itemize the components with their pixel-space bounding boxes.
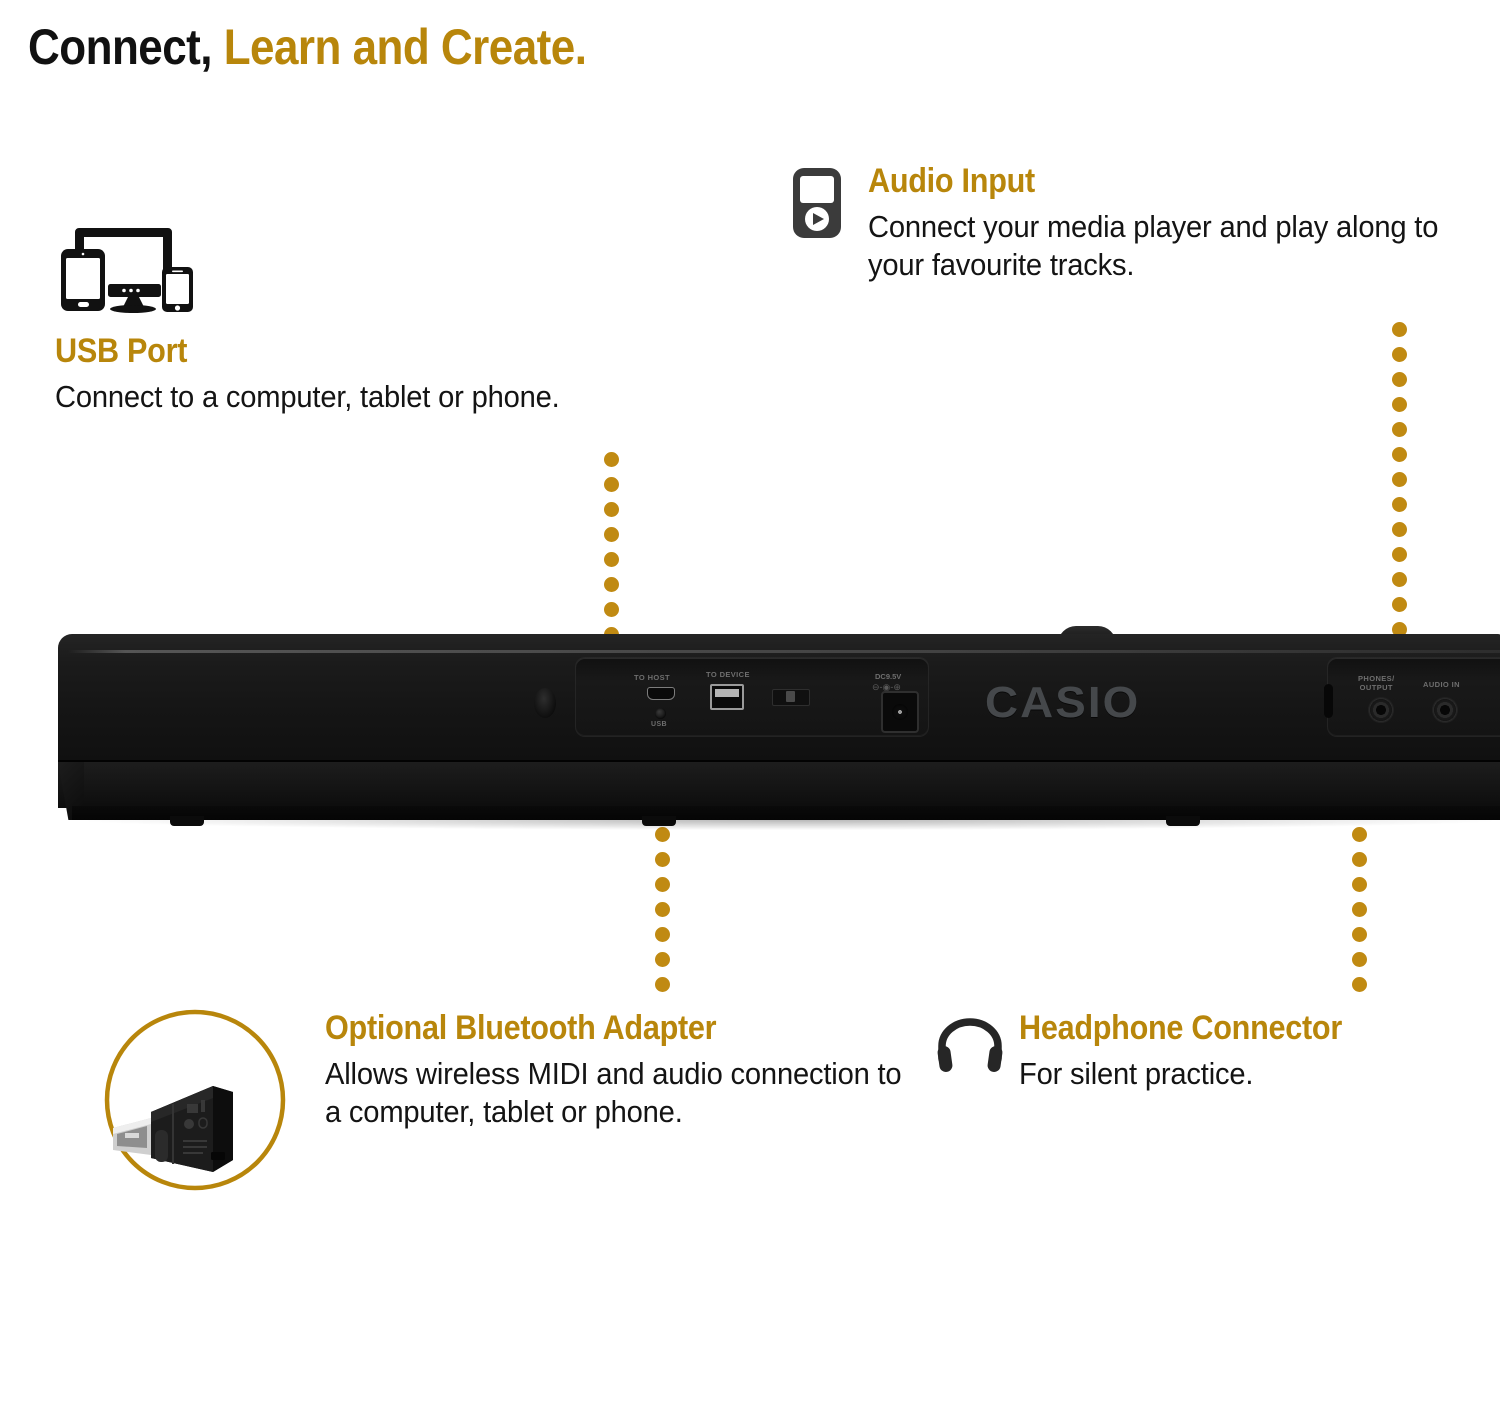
keyboard-base <box>72 806 1500 820</box>
keyboard-ground-shadow <box>88 820 1492 830</box>
leader-dot <box>1392 547 1407 562</box>
leader-dot <box>604 552 619 567</box>
leader-dot <box>1392 422 1407 437</box>
leader-dot <box>1392 497 1407 512</box>
feature-audio-input: Audio Input Connect your media player an… <box>868 163 1468 283</box>
keyboard-top-highlight <box>68 650 1500 653</box>
casio-keyboard-rear-view: TO HOST USB TO DEVICE DC9.5V ⊖-◉-⊕ PHONE… <box>58 620 1500 835</box>
leader-dot <box>1392 472 1407 487</box>
leader-dot <box>1392 522 1407 537</box>
leader-dot <box>604 602 619 617</box>
leader-dot <box>655 952 670 967</box>
feature-desc-headphone-connector: For silent practice. <box>1019 1055 1461 1093</box>
rear-panel-left: TO HOST USB TO DEVICE DC9.5V ⊖-◉-⊕ <box>576 658 928 736</box>
keyboard-bottom-shell <box>58 762 1500 808</box>
leader-dot <box>655 877 670 892</box>
page-title-black: Connect, <box>28 19 212 75</box>
label-audio-in: AUDIO IN <box>1423 681 1460 690</box>
feature-bluetooth-adapter: Optional Bluetooth Adapter Allows wirele… <box>325 1010 925 1130</box>
dc-power-jack[interactable] <box>881 691 919 733</box>
screw-hole-left <box>655 708 666 719</box>
feature-desc-bluetooth-adapter: Allows wireless MIDI and audio connectio… <box>325 1055 903 1131</box>
leader-dot <box>604 452 619 467</box>
leader-dot <box>1392 347 1407 362</box>
keyboard-screw-recess <box>534 688 556 718</box>
leader-dot <box>604 477 619 492</box>
feature-desc-usb-port: Connect to a computer, tablet or phone. <box>55 378 713 416</box>
leader-dot <box>1392 322 1407 337</box>
headphones-icon <box>936 1013 1004 1073</box>
leader-dot <box>1392 572 1407 587</box>
jack-audio-in[interactable] <box>1432 697 1458 723</box>
leader-dot <box>655 927 670 942</box>
leader-dot <box>604 527 619 542</box>
leader-dot <box>1392 372 1407 387</box>
page-title-gold: Learn and Create. <box>212 19 586 75</box>
port-usb-a-to-device[interactable] <box>710 684 744 710</box>
page-title: Connect, Learn and Create. <box>28 22 586 72</box>
leader-dot <box>1352 952 1367 967</box>
leader-dot <box>1352 977 1367 992</box>
feature-headphone-connector: Headphone Connector For silent practice. <box>1019 1010 1489 1093</box>
leader-dot <box>1392 397 1407 412</box>
infographic-canvas: Connect, Learn and Create. USB Port <box>0 0 1500 1406</box>
label-dc-in: DC9.5V <box>875 672 901 681</box>
leader-dot <box>655 902 670 917</box>
feature-title-usb-port: USB Port <box>55 333 685 370</box>
feature-desc-audio-input: Connect your media player and play along… <box>868 208 1456 284</box>
leader-dot <box>1352 927 1367 942</box>
leader-dot <box>655 977 670 992</box>
leader-dot <box>1392 597 1407 612</box>
label-to-device: TO DEVICE <box>706 671 750 680</box>
label-to-host: TO HOST <box>634 674 670 683</box>
rear-panel-right: PHONES/ OUTPUT AUDIO IN <box>1328 658 1500 736</box>
leader-dot <box>604 577 619 592</box>
feature-title-headphone-connector: Headphone Connector <box>1019 1010 1442 1047</box>
panel-side-slot <box>1324 684 1333 718</box>
port-usb-micro-to-host[interactable] <box>647 687 675 700</box>
feature-usb-port: USB Port Connect to a computer, tablet o… <box>55 333 755 416</box>
leader-dot <box>1392 447 1407 462</box>
panel-slider-switch[interactable] <box>772 689 810 706</box>
leader-dot <box>1352 902 1367 917</box>
label-usb: USB <box>651 721 667 729</box>
usb-dongle-photo <box>95 1000 295 1200</box>
devices-icon <box>52 224 202 314</box>
jack-phones-output[interactable] <box>1368 697 1394 723</box>
feature-title-audio-input: Audio Input <box>868 163 1408 200</box>
feature-title-bluetooth-adapter: Optional Bluetooth Adapter <box>325 1010 865 1047</box>
casio-brand-logo: CASIO <box>985 678 1140 728</box>
leader-dot <box>655 852 670 867</box>
leader-dot <box>1352 877 1367 892</box>
media-player-icon <box>792 167 842 239</box>
label-phones-output: PHONES/ OUTPUT <box>1358 675 1395 692</box>
leader-dot <box>604 502 619 517</box>
leader-dot <box>1352 852 1367 867</box>
